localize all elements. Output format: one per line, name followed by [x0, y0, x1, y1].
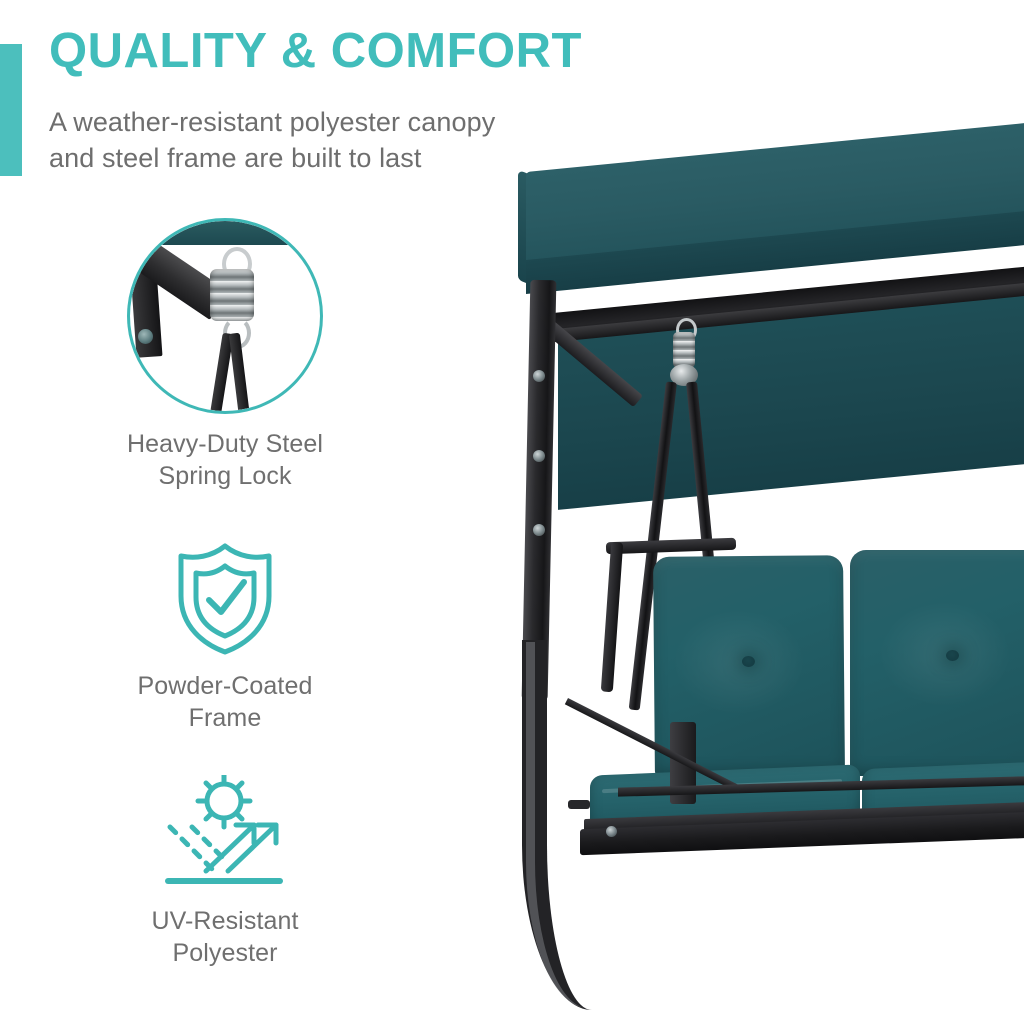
- photo-steel-spring: [210, 269, 254, 321]
- spacer: [40, 891, 410, 905]
- seat-back-cushion-right: [850, 550, 1024, 776]
- feature-label-line-1: Powder-Coated: [137, 672, 312, 700]
- photo-canopy-edge: [130, 221, 320, 245]
- photo-frame-bolt: [138, 329, 153, 344]
- frame-leg-bolt: [568, 800, 590, 809]
- feature-label-line-1: UV-Resistant: [151, 907, 298, 935]
- spacer: [40, 656, 410, 670]
- frame-post-bolt: [533, 524, 545, 536]
- frame-leg-highlight: [526, 642, 588, 1008]
- spring-lock-photo-circle-icon: [127, 218, 323, 414]
- page-title: QUALITY & COMFORT: [49, 26, 582, 77]
- swing-hanger-spring: [673, 332, 695, 368]
- cushion-tuft-shading: [663, 601, 814, 722]
- cushion-tuft-button: [742, 656, 755, 667]
- seat-arm-support: [601, 542, 623, 692]
- feature-item-uv-resistant: UV-Resistant Polyester: [40, 775, 410, 969]
- photo-cable-right: [229, 333, 250, 411]
- feature-label-uv-resistant: UV-Resistant Polyester: [40, 905, 410, 969]
- feature-item-spring-lock: Heavy-Duty Steel Spring Lock: [40, 218, 410, 492]
- uv-sun-deflect-icon: [162, 775, 288, 891]
- shield-check-icon: [169, 540, 281, 656]
- feature-label-powder-coated-frame: Powder-Coated Frame: [40, 670, 410, 734]
- feature-icon-holder: [40, 218, 410, 414]
- page-subtitle-line-1: A weather-resistant polyester canopy: [49, 104, 495, 140]
- frame-vertical-post: [522, 280, 557, 700]
- seat-armrest-bar: [606, 538, 736, 555]
- infographic-page: QUALITY & COMFORT A weather-resistant po…: [0, 0, 1024, 1024]
- header-accent-bar: [0, 44, 22, 176]
- product-photo-porch-swing: [430, 120, 1024, 1024]
- seat-frame-bolt: [606, 826, 617, 837]
- page-subtitle-line-2: and steel frame are built to last: [49, 140, 495, 176]
- feature-icon-holder: [40, 540, 410, 656]
- spring-lock-photo-inner: [130, 221, 320, 411]
- cushion-tuft-button: [946, 650, 959, 661]
- page-subtitle: A weather-resistant polyester canopy and…: [49, 104, 495, 176]
- feature-label-spring-lock: Heavy-Duty Steel Spring Lock: [40, 428, 410, 492]
- feature-label-line-1: Heavy-Duty Steel: [127, 430, 323, 458]
- frame-post-bolt: [533, 370, 545, 382]
- feature-label-line-2: Frame: [40, 702, 410, 734]
- cushion-tuft-shading: [870, 594, 1020, 714]
- feature-item-powder-coated-frame: Powder-Coated Frame: [40, 540, 410, 734]
- spacer: [40, 414, 410, 428]
- feature-label-line-2: Spring Lock: [40, 460, 410, 492]
- feature-icon-holder: [40, 775, 410, 891]
- feature-label-line-2: Polyester: [40, 937, 410, 969]
- frame-post-bolt: [533, 450, 545, 462]
